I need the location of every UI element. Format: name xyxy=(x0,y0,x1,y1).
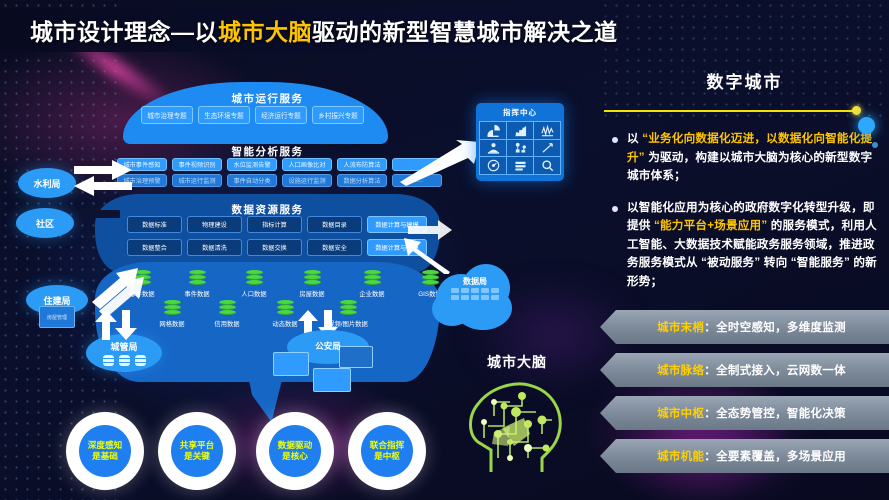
arrow-bar-key: 城市末梢 xyxy=(657,322,704,334)
database-node[interactable]: 事件数据 xyxy=(168,270,226,298)
bottom-circle-row: 深度感知是基础共享平台是关键数据驱动是核心联合指挥是中枢 xyxy=(66,412,406,498)
bullet-item: 以智能化应用为核心的政府数字化转型升级，即提供 “能力平台+场景应用” 的服务模… xyxy=(606,199,883,292)
diagram-chip[interactable]: 数据整合 xyxy=(127,239,182,256)
diagram-chip[interactable]: 数据清洗 xyxy=(187,239,242,256)
arrow-bar-label: 城市中枢：全态势管控，智能化决策 xyxy=(657,405,846,421)
diagram-chip[interactable]: 数据交换 xyxy=(247,239,302,256)
concept-circle[interactable]: 数据驱动是核心 xyxy=(256,412,334,490)
arrow-bar-key: 城市中枢 xyxy=(657,408,704,420)
concept-circle-inner: 深度感知是基础 xyxy=(79,425,131,477)
database-cylinder-icon xyxy=(277,300,294,317)
arrow-right-side xyxy=(408,218,452,242)
diagram-chip[interactable]: 数据安全 xyxy=(307,239,362,256)
decor-glow-small xyxy=(872,142,878,148)
dept-bubble-water[interactable]: 水利局 xyxy=(18,168,76,198)
concept-circle-line2: 是中枢 xyxy=(374,451,400,461)
bullet-dot-icon xyxy=(612,137,618,143)
arrow-to-command-center xyxy=(400,140,480,186)
data-bureau-cloud[interactable]: 数据局 xyxy=(432,258,518,334)
command-center-tile[interactable] xyxy=(480,157,506,174)
command-center-tile[interactable] xyxy=(480,122,506,139)
diagram-chip[interactable]: 数据标准 xyxy=(127,216,182,233)
dept-housing-card: 房屋管理 xyxy=(39,306,75,328)
police-screen-3 xyxy=(313,368,351,392)
arrow-bar-value: 全态势管控，智能化决策 xyxy=(716,408,846,420)
dept-bubble-community[interactable]: 社区 xyxy=(16,208,74,238)
diagram-chip[interactable]: 乡村振兴专题 xyxy=(312,106,364,124)
diagram-chip[interactable]: 数据目录 xyxy=(307,216,362,233)
command-center-tile[interactable] xyxy=(534,122,560,139)
database-cylinder-icon xyxy=(164,300,181,317)
layer-3-chip-row-1: 数据标准物理建设指标计算数据目录数据计算与建模 xyxy=(127,216,427,233)
dept-label-housing: 住建局 xyxy=(43,294,70,307)
divider-knob xyxy=(852,106,861,115)
arrow-bar[interactable]: 城市中枢：全态势管控，智能化决策 xyxy=(600,396,889,430)
arrow-bar-key: 城市机能 xyxy=(657,451,704,463)
right-panel-heading: 数字城市 xyxy=(600,68,889,93)
database-node[interactable]: 信用数据 xyxy=(198,300,256,328)
diagram-chip[interactable]: 指标计算 xyxy=(247,216,302,233)
arrow-urban-mgmt-pair xyxy=(92,310,140,340)
database-cylinder-icon xyxy=(189,270,206,287)
diagram-chip[interactable]: 人口画像比对 xyxy=(282,158,332,171)
brain-circuit-icon xyxy=(458,372,576,484)
network-icon xyxy=(514,141,527,154)
command-center-tile[interactable] xyxy=(534,140,560,157)
bullet-item: 以 “业务化向数据化迈进，以数据化向智能化提升” 为驱动，构建以城市大脑为核心的… xyxy=(606,130,883,186)
slide-title-bar: 城市设计理念—以城市大脑驱动的新型智慧城市解决之道 xyxy=(0,8,660,52)
diagram-chip[interactable]: 人流布防算法 xyxy=(337,158,387,171)
bullet-text: 以 “业务化向数据化迈进，以数据化向智能化提升” 为驱动，构建以城市大脑为核心的… xyxy=(627,130,883,186)
layer-3-title: 数据资源服务 xyxy=(95,202,440,217)
arrow-bar-value: 全时空感知，多维度监测 xyxy=(716,322,846,334)
pie-chart-icon xyxy=(487,124,500,137)
diagram-chip[interactable]: 城市治理专题 xyxy=(141,106,193,124)
arrow-bar-label: 城市机能：全要素覆盖，多场景应用 xyxy=(657,448,846,464)
database-node[interactable]: 企业数据 xyxy=(343,270,401,298)
gauge-icon xyxy=(487,159,500,172)
arrow-bar[interactable]: 城市末梢：全时空感知，多维度监测 xyxy=(600,310,889,344)
command-center-title: 指挥中心 xyxy=(479,107,561,118)
bullet-text: 以智能化应用为核心的政府数字化转型升级，即提供 “能力平台+场景应用” 的服务模… xyxy=(627,199,883,292)
concept-circle-line2: 是基础 xyxy=(92,451,118,461)
concept-circle-line1: 共享平台 xyxy=(180,440,214,450)
layer-2-chip-row-2: 城市治理预警城市运行监测事件自动分类设施运行监测数据分析算法…… xyxy=(117,174,442,187)
arrow-bar-label: 城市脉络：全制式接入，云网数一体 xyxy=(657,362,846,378)
arrow-water-pair xyxy=(74,160,134,196)
arrow-bar-sep: ： xyxy=(704,365,716,377)
divider-line xyxy=(604,110,856,112)
concept-circle[interactable]: 联合指挥是中枢 xyxy=(348,412,426,490)
trend-line-icon xyxy=(541,141,554,154)
concept-circle-line2: 是核心 xyxy=(282,451,308,461)
database-cylinder-icon xyxy=(304,270,321,287)
concept-circle-inner: 联合指挥是中枢 xyxy=(361,425,413,477)
title-prefix: 城市设计理念—以 xyxy=(30,19,218,45)
layer-3-chip-row-2: 数据整合数据清洗数据交换数据安全数据计算与建模 xyxy=(127,239,427,256)
arrow-bar-key: 城市脉络 xyxy=(657,365,704,377)
bar-chart-icon xyxy=(514,124,527,137)
concept-circle[interactable]: 共享平台是关键 xyxy=(158,412,236,490)
police-bureau-group[interactable]: 公安局 xyxy=(273,330,383,392)
page-title: 城市设计理念—以城市大脑驱动的新型智慧城市解决之道 xyxy=(0,13,618,47)
dept-label-urban-mgmt: 城管局 xyxy=(110,340,137,353)
database-label: 事件数据 xyxy=(168,289,226,298)
arrow-bar[interactable]: 城市机能：全要素覆盖，多场景应用 xyxy=(600,439,889,473)
command-center-tile[interactable] xyxy=(534,157,560,174)
database-cylinder-icon xyxy=(364,270,381,287)
concept-circle-line1: 联合指挥 xyxy=(370,440,404,450)
decor-glow-large xyxy=(858,117,875,134)
urban-mgmt-db-icons xyxy=(103,355,146,366)
city-brain-label: 城市大脑 xyxy=(452,352,582,372)
police-screen-1 xyxy=(273,352,309,376)
diagram-chip[interactable]: 生态环境专题 xyxy=(198,106,250,124)
database-label: 信用数据 xyxy=(198,319,256,328)
bullet-text-highlight: “能力平台+场景应用” xyxy=(654,219,767,232)
data-bureau-label: 数据局 xyxy=(432,276,518,287)
dept-label-community: 社区 xyxy=(36,217,54,230)
concept-circle-line1: 深度感知 xyxy=(88,440,122,450)
diagram-chip[interactable]: 设施运行监测 xyxy=(282,174,332,187)
concept-circle[interactable]: 深度感知是基础 xyxy=(66,412,144,490)
diagram-chip[interactable]: 事件视频识别 xyxy=(172,158,222,171)
bullet-text-plain: 以 xyxy=(627,132,642,145)
arrow-bar-sep: ： xyxy=(704,322,716,334)
diagram-chip[interactable]: 数据分析算法 xyxy=(337,174,387,187)
arrow-bar-value: 全制式接入，云网数一体 xyxy=(716,365,846,377)
concept-circle-line2: 是关键 xyxy=(184,451,210,461)
layer-1-chip-row: 城市治理专题生态环境专题经济运行专题乡村振兴专题 xyxy=(141,106,364,124)
title-highlight: 城市大脑 xyxy=(218,19,312,45)
database-label: 人口数据 xyxy=(225,289,283,298)
concept-circle-inner: 数据驱动是核心 xyxy=(269,425,321,477)
bullet-text-plain: 为驱动，构建以城市大脑为核心的新型数字城市体系； xyxy=(627,151,872,183)
arrow-bar-list: 城市末梢：全时空感知，多维度监测城市脉络：全制式接入，云网数一体城市中枢：全态势… xyxy=(600,310,889,482)
database-label: 网格数据 xyxy=(143,319,201,328)
command-center-tile[interactable] xyxy=(507,122,533,139)
command-center-tile[interactable] xyxy=(507,157,533,174)
database-label: 企业数据 xyxy=(343,289,401,298)
database-cylinder-icon xyxy=(219,300,236,317)
dept-label-water: 水利局 xyxy=(33,177,60,190)
database-cylinder-icon xyxy=(246,270,263,287)
command-center-tile[interactable] xyxy=(507,140,533,157)
command-center-panel[interactable]: 指挥中心 xyxy=(476,103,564,181)
arrow-bar[interactable]: 城市脉络：全制式接入，云网数一体 xyxy=(600,353,889,387)
server-icon xyxy=(514,159,527,172)
right-panel-bullets: 以 “业务化向数据化迈进，以数据化向智能化提升” 为驱动，构建以城市大脑为核心的… xyxy=(606,130,883,291)
satellite-icon xyxy=(487,141,500,154)
dept-housing-card-label: 房屋管理 xyxy=(47,314,67,321)
database-node[interactable]: 房屋数据 xyxy=(283,270,341,298)
database-label: 房屋数据 xyxy=(283,289,341,298)
diagram-chip[interactable]: 事件自动分类 xyxy=(227,174,277,187)
database-node[interactable]: 网格数据 xyxy=(143,300,201,328)
search-icon xyxy=(541,159,554,172)
diagram-chip[interactable]: 城市运行监测 xyxy=(172,174,222,187)
arrow-bar-sep: ： xyxy=(704,451,716,463)
arrow-bar-label: 城市末梢：全时空感知，多维度监测 xyxy=(657,319,846,335)
database-node[interactable]: 人口数据 xyxy=(225,270,283,298)
command-center-icon-grid xyxy=(479,121,561,175)
arrow-bar-sep: ： xyxy=(704,408,716,420)
city-brain-group: 城市大脑 xyxy=(452,352,582,492)
arrow-community xyxy=(78,206,120,222)
right-panel-divider xyxy=(604,106,881,116)
layer-2-title: 智能分析服务 xyxy=(95,144,440,159)
police-label: 公安局 xyxy=(287,340,369,352)
bullet-dot-icon xyxy=(612,206,618,212)
slide-canvas: 城市设计理念—以城市大脑驱动的新型智慧城市解决之道 数字城市 以 “业务化向数据… xyxy=(0,0,889,500)
database-cylinder-icon xyxy=(340,300,357,317)
title-suffix: 驱动的新型智慧城市解决之道 xyxy=(312,19,618,45)
concept-circle-line1: 数据驱动 xyxy=(278,440,312,450)
layer-1-title: 城市运行服务 xyxy=(95,91,440,106)
data-bureau-server-grid xyxy=(451,288,499,301)
concept-circle-inner: 共享平台是关键 xyxy=(171,425,223,477)
diagram-chip[interactable]: 水位监测告警 xyxy=(227,158,277,171)
command-center-tile[interactable] xyxy=(480,140,506,157)
arrow-bar-value: 全要素覆盖，多场景应用 xyxy=(716,451,846,463)
diagram-chip[interactable]: 物理建设 xyxy=(187,216,242,233)
wave-chart-icon xyxy=(541,124,554,137)
diagram-chip[interactable]: 经济运行专题 xyxy=(255,106,307,124)
layer-2-chip-row-1: 城市事件感知事件视频识别水位监测告警人口画像比对人流布防算法 xyxy=(117,158,442,171)
